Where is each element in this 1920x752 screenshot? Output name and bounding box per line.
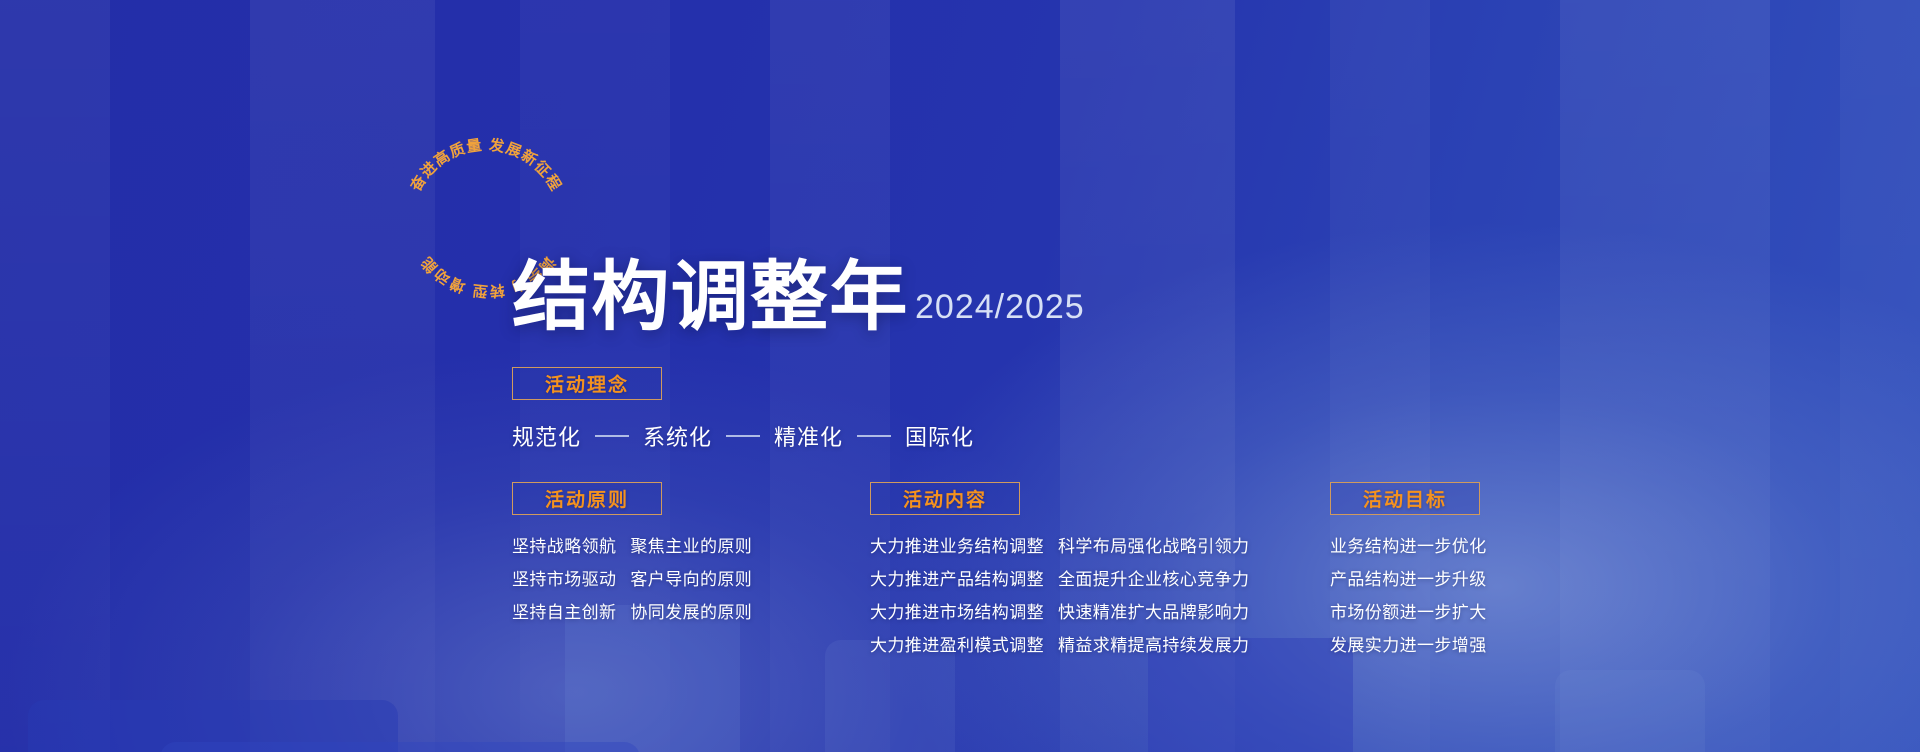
list-item: 大力推进产品结构调整 全面提升企业核心竞争力	[870, 566, 1249, 594]
year-range-label: 2024/2025	[915, 288, 1085, 327]
list-item: 大力推进市场结构调整 快速精准扩大品牌影响力	[870, 599, 1249, 627]
list-item: 产品结构进一步升级	[1330, 566, 1487, 594]
principles-row-list: 坚持战略领航 聚焦主业的原则 坚持市场驱动 客户导向的原则 坚持自主创新 协同发…	[512, 533, 752, 627]
goals-row-list: 业务结构进一步优化 产品结构进一步升级 市场份额进一步扩大 发展实力进一步增强	[1330, 533, 1487, 660]
concept-badge-wrapper: 活动理念	[512, 367, 662, 400]
row-left-text: 市场份额进一步扩大	[1330, 599, 1487, 627]
badge-content: 活动内容	[870, 482, 1020, 515]
list-item: 大力推进业务结构调整 科学布局强化战略引领力	[870, 533, 1249, 561]
list-item: 大力推进盈利模式调整 精益求精提高持续发展力	[870, 632, 1249, 660]
decorative-block-3	[565, 605, 740, 752]
row-left-text: 大力推进市场结构调整	[870, 599, 1044, 627]
row-left-text: 大力推进业务结构调整	[870, 533, 1044, 561]
row-left-text: 发展实力进一步增强	[1330, 632, 1487, 660]
light-band-1	[0, 0, 110, 752]
concept-item-3: 国际化	[905, 420, 974, 452]
list-item: 坚持市场驱动 客户导向的原则	[512, 566, 752, 594]
decorative-block-2	[160, 742, 640, 752]
concept-items-line: 规范化 系统化 精准化 国际化	[512, 420, 974, 452]
concept-separator-2	[857, 435, 891, 437]
concept-separator-1	[726, 435, 760, 437]
badge-principles: 活动原则	[512, 482, 662, 515]
row-right-text: 协同发展的原则	[630, 599, 752, 627]
row-right-text: 全面提升企业核心竞争力	[1058, 566, 1249, 594]
concept-item-1: 系统化	[643, 420, 712, 452]
section-principles: 活动原则 坚持战略领航 聚焦主业的原则 坚持市场驱动 客户导向的原则 坚持自主创…	[512, 482, 752, 627]
row-right-text: 聚焦主业的原则	[630, 533, 752, 561]
row-right-text: 客户导向的原则	[630, 566, 752, 594]
row-left-text: 业务结构进一步优化	[1330, 533, 1487, 561]
list-item: 坚持自主创新 协同发展的原则	[512, 599, 752, 627]
row-left-text: 产品结构进一步升级	[1330, 566, 1487, 594]
row-left-text: 坚持市场驱动	[512, 566, 616, 594]
list-item: 发展实力进一步增强	[1330, 632, 1487, 660]
list-item: 坚持战略领航 聚焦主业的原则	[512, 533, 752, 561]
list-item: 业务结构进一步优化	[1330, 533, 1487, 561]
content-row-list: 大力推进业务结构调整 科学布局强化战略引领力 大力推进产品结构调整 全面提升企业…	[870, 533, 1249, 660]
decorative-block-6	[1555, 670, 1705, 752]
row-left-text: 大力推进产品结构调整	[870, 566, 1044, 594]
badge-goals: 活动目标	[1330, 482, 1480, 515]
row-right-text: 精益求精提高持续发展力	[1058, 632, 1249, 660]
row-right-text: 科学布局强化战略引领力	[1058, 533, 1249, 561]
row-left-text: 大力推进盈利模式调整	[870, 632, 1044, 660]
page-title: 结构调整年	[512, 258, 909, 336]
section-goals: 活动目标 业务结构进一步优化 产品结构进一步升级 市场份额进一步扩大 发展实力进…	[1330, 482, 1487, 660]
concept-item-2: 精准化	[774, 420, 843, 452]
campaign-banner: 奋进高质量 发展新征程 调结构 转型 增动能 结构调整年 2024/2025 活…	[0, 0, 1920, 752]
light-band-2	[250, 0, 435, 752]
row-right-text: 快速精准扩大品牌影响力	[1058, 599, 1249, 627]
row-left-text: 坚持战略领航	[512, 533, 616, 561]
title-row: 结构调整年 2024/2025	[512, 258, 1085, 336]
badge-concept: 活动理念	[512, 367, 662, 400]
concept-separator-0	[595, 435, 629, 437]
emblem-top-arc-text: 奋进高质量 发展新征程	[406, 136, 564, 196]
row-left-text: 坚持自主创新	[512, 599, 616, 627]
decorative-block-1	[28, 700, 398, 752]
list-item: 市场份额进一步扩大	[1330, 599, 1487, 627]
section-content: 活动内容 大力推进业务结构调整 科学布局强化战略引领力 大力推进产品结构调整 全…	[870, 482, 1249, 660]
light-band-7	[1560, 0, 1770, 752]
light-band-8	[1840, 0, 1920, 752]
concept-item-0: 规范化	[512, 420, 581, 452]
